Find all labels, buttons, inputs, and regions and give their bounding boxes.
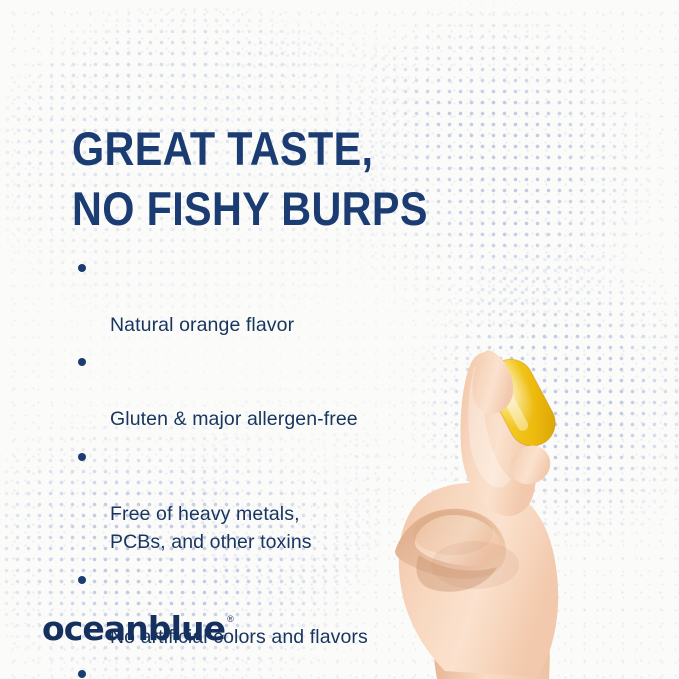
headline: GREAT TASTE, NO FISHY BURPS [72,119,428,237]
brand-logo: oceanblue ® [42,612,234,645]
benefit-text: Gluten & major allergen-free [110,408,358,430]
product-benefits-poster: GREAT TASTE, NO FISHY BURPS Natural oran… [0,0,679,679]
brand-logo-text: oceanblue [42,612,225,645]
list-item: Purified to the highest cGMP quality sta… [72,660,472,679]
bullet-icon [78,576,86,584]
list-item: Free of heavy metals, PCBs, and other to… [72,443,472,557]
bullet-icon [78,264,86,272]
list-item: Natural orange flavor [72,254,472,339]
bullet-icon [78,670,86,678]
list-item: Gluten & major allergen-free [72,348,472,433]
bullet-icon [78,358,86,366]
benefit-text: Free of heavy metals, PCBs, and other to… [110,503,312,553]
benefit-text: Natural orange flavor [110,314,294,336]
bullet-icon [78,453,86,461]
registered-trademark-icon: ® [227,615,234,624]
